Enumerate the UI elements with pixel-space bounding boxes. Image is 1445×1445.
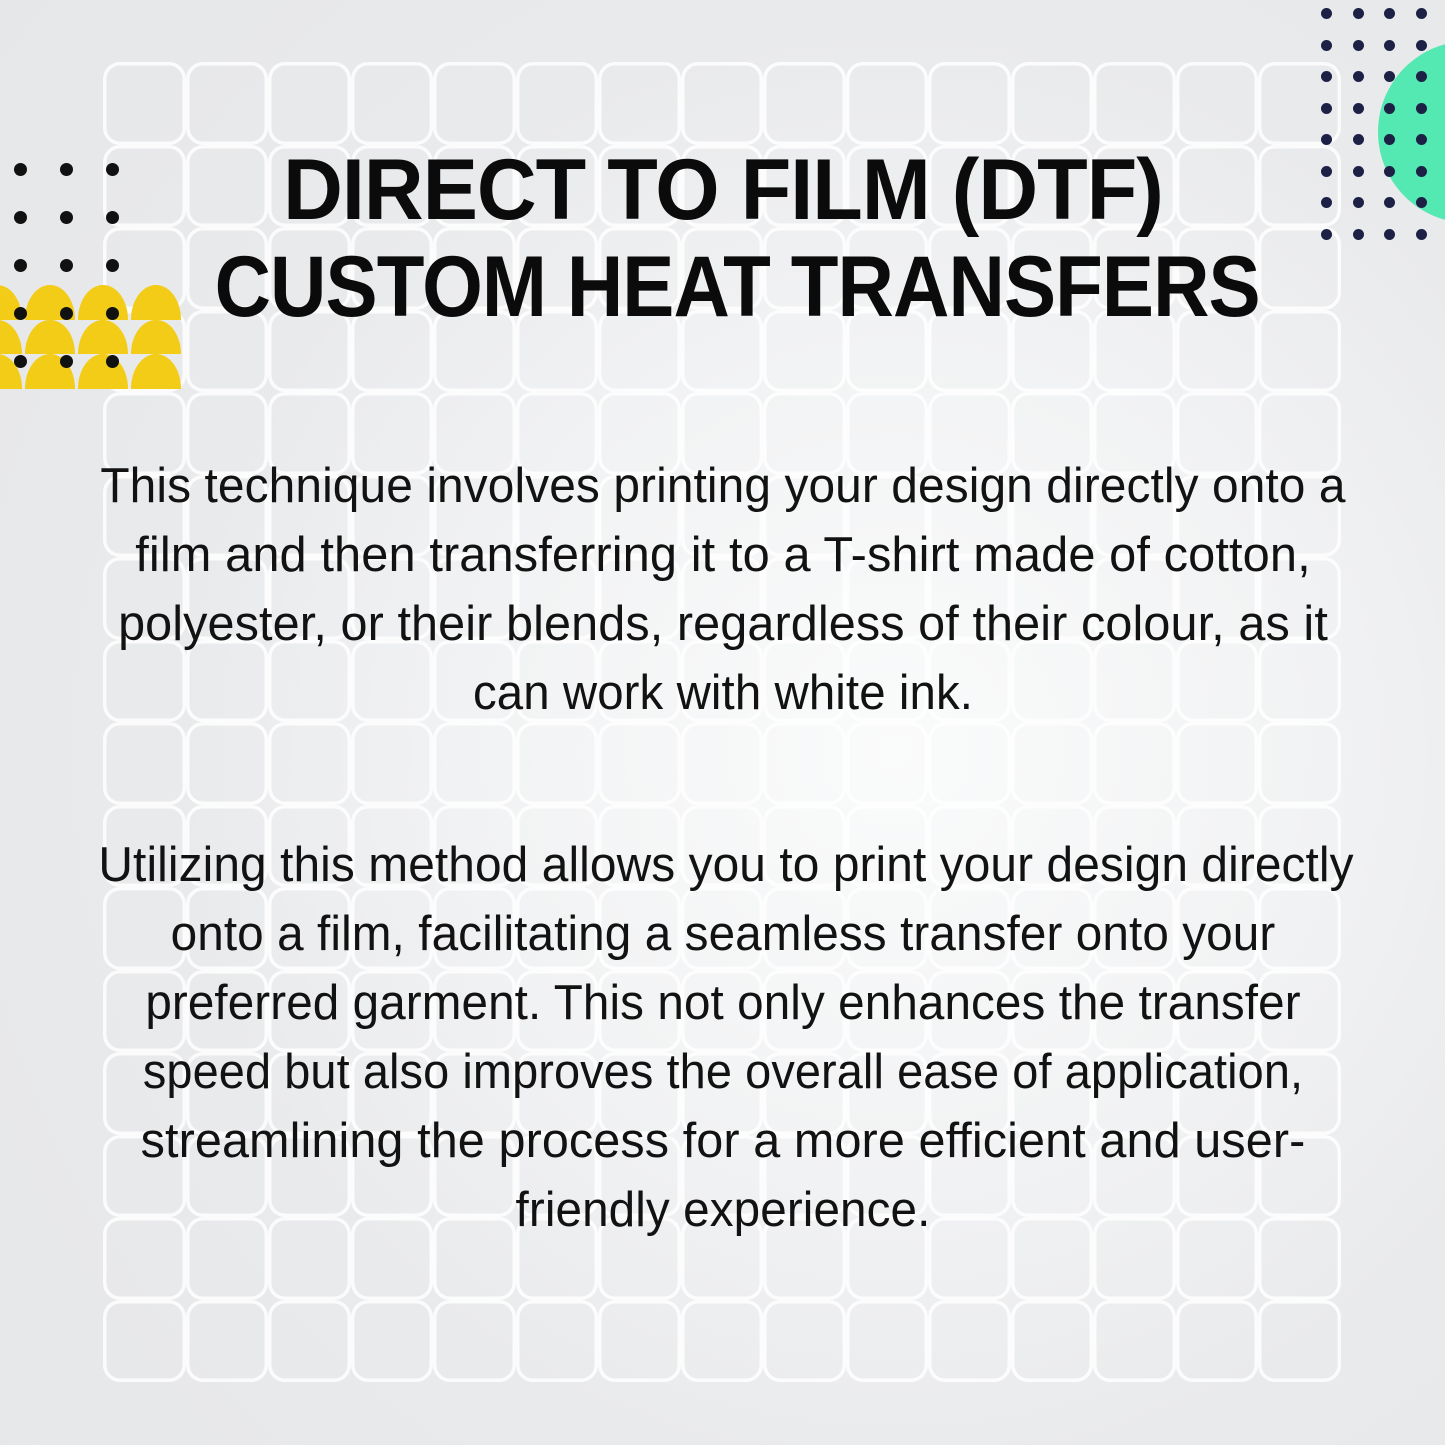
paragraph-2-line-5: streamlining the process for a more effi… xyxy=(88,1107,1356,1176)
paragraph-1-line-1: This technique involves printing your de… xyxy=(98,452,1348,521)
body-text-block: This technique involves printing your de… xyxy=(83,452,1363,1245)
paragraph-1-line-4: can work with white ink. xyxy=(104,659,1342,728)
paragraph-1-line-3: polyester, or their blends, regardless o… xyxy=(88,590,1356,659)
paragraph-2: Utilizing this method allows you to prin… xyxy=(83,831,1363,1245)
paragraph-1: This technique involves printing your de… xyxy=(83,452,1363,728)
paragraph-2-line-4: speed but also improves the overall ease… xyxy=(110,1038,1335,1107)
paragraph-2-line-3: preferred garment. This not only enhance… xyxy=(101,969,1344,1038)
paragraph-2-line-6: friendly experience. xyxy=(100,1176,1344,1245)
paragraph-2-line-1: Utilizing this method allows you to prin… xyxy=(98,831,1347,900)
poster-content: DIRECT TO FILM (DTF) CUSTOM HEAT TRANSFE… xyxy=(0,0,1445,1445)
paragraph-2-line-2: onto a film, facilitating a seamless tra… xyxy=(100,900,1345,969)
poster-canvas: DIRECT TO FILM (DTF) CUSTOM HEAT TRANSFE… xyxy=(0,0,1445,1445)
paragraph-1-line-2: film and then transferring it to a T-shi… xyxy=(86,521,1359,590)
page-title-line-2: CUSTOM HEAT TRANSFERS xyxy=(214,239,1231,336)
page-title: DIRECT TO FILM (DTF) CUSTOM HEAT TRANSFE… xyxy=(163,142,1283,336)
page-title-line-1: DIRECT TO FILM (DTF) xyxy=(184,142,1261,239)
